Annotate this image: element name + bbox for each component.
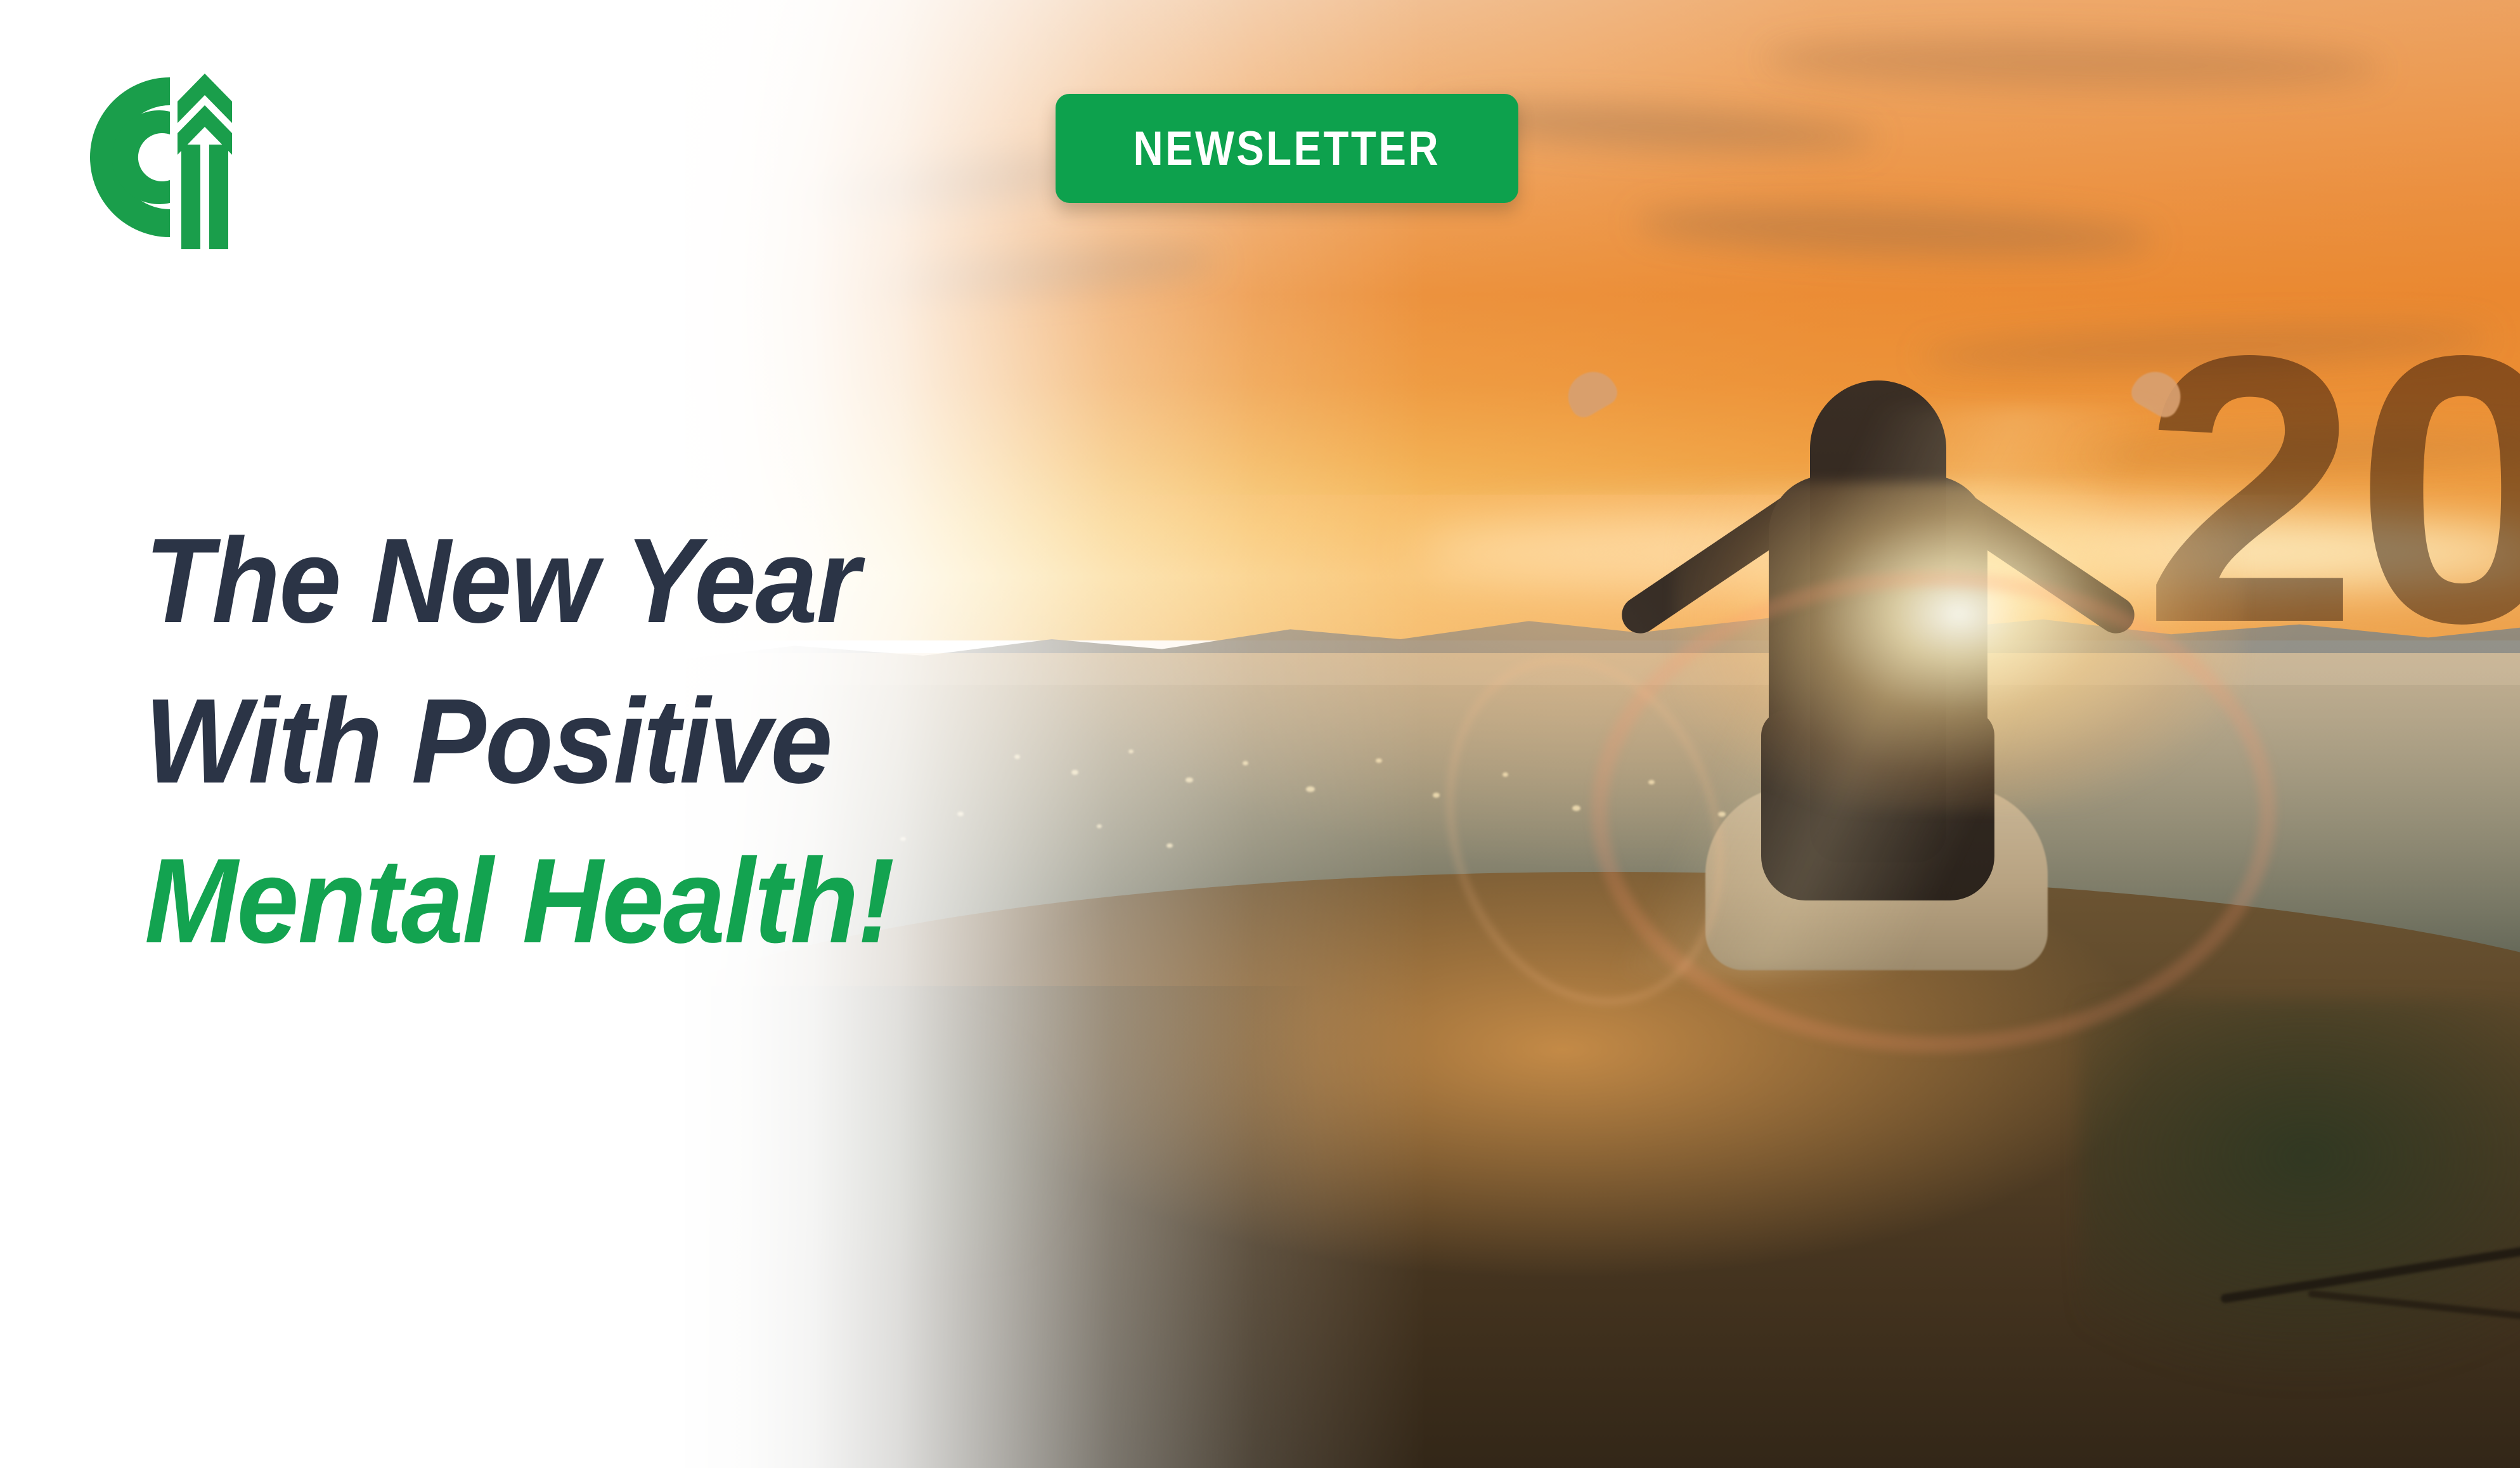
brand-logo[interactable] — [89, 68, 247, 249]
headline-line-3: Mental Health! — [145, 821, 1147, 982]
right-bar — [209, 145, 228, 249]
left-bar — [181, 145, 200, 249]
newsletter-badge[interactable]: NEWSLETTER — [1056, 94, 1518, 203]
headline-line-1: The New Year — [145, 501, 1147, 661]
newsletter-banner: 2024 — [0, 0, 2520, 1468]
page-title: The New Year With Positive Mental Health… — [145, 501, 1222, 982]
foreground-grass — [685, 992, 1078, 1259]
headline-line-2: With Positive — [145, 661, 1147, 822]
newsletter-badge-label: NEWSLETTER — [1134, 121, 1441, 176]
